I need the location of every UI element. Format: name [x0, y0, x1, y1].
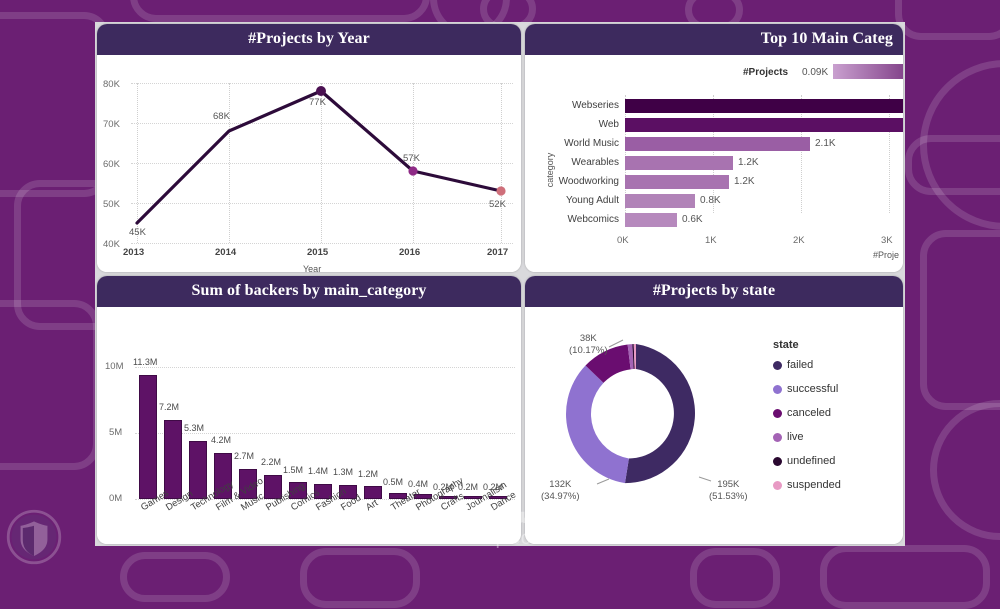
bar[interactable]: [625, 175, 729, 189]
bar-row[interactable]: Webseries: [625, 99, 903, 113]
bar-value-label: 1.4M: [308, 466, 328, 476]
chart-backers-by-category[interactable]: 10M 5M 0M: [97, 307, 521, 544]
donut-label-percent: (10.17%): [569, 345, 608, 356]
y-tick-label: 10M: [105, 361, 123, 372]
bar-value-label: 2.7M: [234, 451, 254, 461]
decor-shape: [0, 12, 110, 197]
legend-title: state: [773, 339, 799, 351]
donut-label-failed: 195K (51.53%): [709, 479, 748, 503]
bar-category-label: Webseries: [572, 99, 619, 113]
legend-label: #Projects: [743, 67, 788, 78]
bar-value-label: 1.2K: [738, 156, 759, 170]
legend-item-canceled[interactable]: canceled: [773, 407, 831, 419]
bar-value-label: 1.2K: [734, 175, 755, 189]
bar-row[interactable]: Woodworking 1.2K: [625, 175, 729, 189]
decor-shape: [130, 0, 430, 22]
x-tick-label: 0K: [617, 235, 629, 246]
x-tick-label: 2014: [215, 247, 236, 258]
bar[interactable]: [625, 99, 903, 113]
legend-color-swatch: [773, 361, 782, 370]
bar-category-label: Wearables: [571, 156, 619, 170]
donut-slice-successful: [566, 366, 629, 484]
legend-item-successful[interactable]: successful: [773, 383, 838, 395]
bar-value-label: 0.8K: [700, 194, 721, 208]
bar[interactable]: [139, 375, 157, 499]
legend-gradient-bar: [833, 64, 903, 79]
data-label: 52K: [489, 199, 506, 210]
legend-item-live[interactable]: live: [773, 431, 804, 443]
data-label: 57K: [403, 153, 420, 164]
bar-category-label: Woodworking: [559, 175, 619, 189]
legend-value: 0.09K: [802, 67, 828, 78]
decor-shape: [820, 545, 990, 609]
panel-title-projects-by-year: #Projects by Year: [97, 24, 521, 55]
donut-label-value: 195K: [717, 479, 739, 490]
bar-row[interactable]: Wearables 1.2K: [625, 156, 733, 170]
x-tick-label: 2016: [399, 247, 420, 258]
x-tick-label: 1K: [705, 235, 717, 246]
donut-label-percent: (34.97%): [541, 491, 580, 502]
bar-row[interactable]: Young Adult 0.8K: [625, 194, 695, 208]
bar-value-label: 4.2M: [211, 435, 231, 445]
decor-shape: [0, 300, 100, 470]
panel-top-categories[interactable]: Top 10 Main Categ #Projects 0.09K catego…: [525, 24, 903, 272]
decor-shape: [930, 400, 1000, 540]
legend-item-suspended[interactable]: suspended: [773, 479, 841, 491]
bar[interactable]: [625, 118, 903, 132]
legend-color-swatch: [773, 409, 782, 418]
chart-projects-by-year[interactable]: 80K 70K 60K 50K 40K: [97, 55, 521, 272]
decor-shape: [895, 0, 1000, 40]
panel-backers-by-category[interactable]: Sum of backers by main_category 10M 5M 0…: [97, 276, 521, 544]
dashboard-canvas: #Projects by Year 80K 70K 60K 50K 40K: [95, 22, 905, 546]
bar-value-label: 2.1K: [815, 137, 836, 151]
bar-category-label: World Music: [564, 137, 619, 151]
chart-projects-by-state[interactable]: 38K (10.17%) 195K (51.53%) 132K (34.97%)…: [525, 307, 903, 544]
decor-shape: [920, 230, 1000, 410]
legend-item-undefined[interactable]: undefined: [773, 455, 835, 467]
y-axis-title: category: [545, 140, 555, 200]
legend-item-label: undefined: [787, 455, 835, 467]
legend-color-swatch: [773, 385, 782, 394]
bar-category-label: Webcomics: [568, 213, 620, 227]
bar[interactable]: [164, 420, 182, 499]
bar-value-label: 0.4M: [408, 479, 428, 489]
legend-item-label: canceled: [787, 407, 831, 419]
decor-shape: [905, 135, 1000, 195]
bar-value-label: 5.3M: [184, 423, 204, 433]
bar[interactable]: [625, 137, 810, 151]
bar-value-label: 0.5M: [383, 477, 403, 487]
donut-label-value: 38K: [580, 333, 597, 344]
y-tick-label: 5M: [109, 427, 122, 438]
data-label: 68K: [213, 111, 230, 122]
bar[interactable]: [625, 156, 733, 170]
donut-label-successful: 132K (34.97%): [541, 479, 580, 503]
bar-value-label: 2.2M: [261, 457, 281, 467]
x-tick-label: 2017: [487, 247, 508, 258]
dashboard-row-top: #Projects by Year 80K 70K 60K 50K 40K: [95, 22, 905, 274]
x-tick-label: 3K: [881, 235, 893, 246]
donut-label-canceled: 38K (10.17%): [569, 333, 608, 357]
x-tick-label: 2013: [123, 247, 144, 258]
legend-item-label: failed: [787, 359, 813, 371]
data-point-marker: [316, 86, 326, 96]
panel-title-projects-by-state: #Projects by state: [525, 276, 903, 307]
donut-label-value: 132K: [549, 479, 571, 490]
data-point-marker: [496, 186, 505, 195]
legend-color-swatch: [773, 457, 782, 466]
bar-value-label: 1.5M: [283, 465, 303, 475]
bar-value-label: 11.3M: [133, 357, 157, 367]
legend-item-label: suspended: [787, 479, 841, 491]
dashboard-row-bottom: Sum of backers by main_category 10M 5M 0…: [95, 274, 905, 546]
legend-color-swatch: [773, 433, 782, 442]
bar-category-label: Web: [599, 118, 619, 132]
data-label: 45K: [129, 227, 146, 238]
panel-title-backers-by-category: Sum of backers by main_category: [97, 276, 521, 307]
legend-item-failed[interactable]: failed: [773, 359, 813, 371]
bar-row[interactable]: Web: [625, 118, 903, 132]
donut-label-percent: (51.53%): [709, 491, 748, 502]
x-axis-title: #Proje: [873, 250, 899, 260]
bar-value-label: 0.6K: [682, 213, 703, 227]
bar[interactable]: [189, 441, 207, 499]
leader-line: [597, 479, 609, 484]
data-point-marker: [408, 166, 417, 175]
decor-shape: [120, 552, 230, 602]
data-label: 77K: [309, 97, 326, 108]
x-tick-label: 2K: [793, 235, 805, 246]
bar-value-label: 1.3M: [333, 467, 353, 477]
bar[interactable]: [625, 194, 695, 208]
bar-row[interactable]: World Music 2.1K: [625, 137, 810, 151]
legend-color-swatch: [773, 481, 782, 490]
legend-item-label: live: [787, 431, 804, 443]
decor-shape: [690, 548, 780, 608]
legend-item-label: successful: [787, 383, 838, 395]
chart-top-categories[interactable]: #Projects 0.09K category Webseries: [525, 55, 903, 272]
x-tick-label: 2015: [307, 247, 328, 258]
y-tick-label: 0M: [109, 493, 122, 504]
x-axis-title: Year: [303, 264, 321, 272]
bar-category-label: Young Adult: [566, 194, 619, 208]
bar-row[interactable]: Webcomics 0.6K: [625, 213, 677, 227]
decor-shape: [300, 548, 420, 608]
line-series: [97, 55, 521, 265]
bar-value-label: 7.2M: [159, 402, 179, 412]
bar-value-label: 1.2M: [358, 469, 378, 479]
panel-projects-by-year[interactable]: #Projects by Year 80K 70K 60K 50K 40K: [97, 24, 521, 272]
panel-projects-by-state[interactable]: #Projects by state: [525, 276, 903, 544]
shield-badge-icon: [6, 509, 62, 565]
panel-title-top-categories: Top 10 Main Categ: [525, 24, 903, 55]
bar[interactable]: [625, 213, 677, 227]
